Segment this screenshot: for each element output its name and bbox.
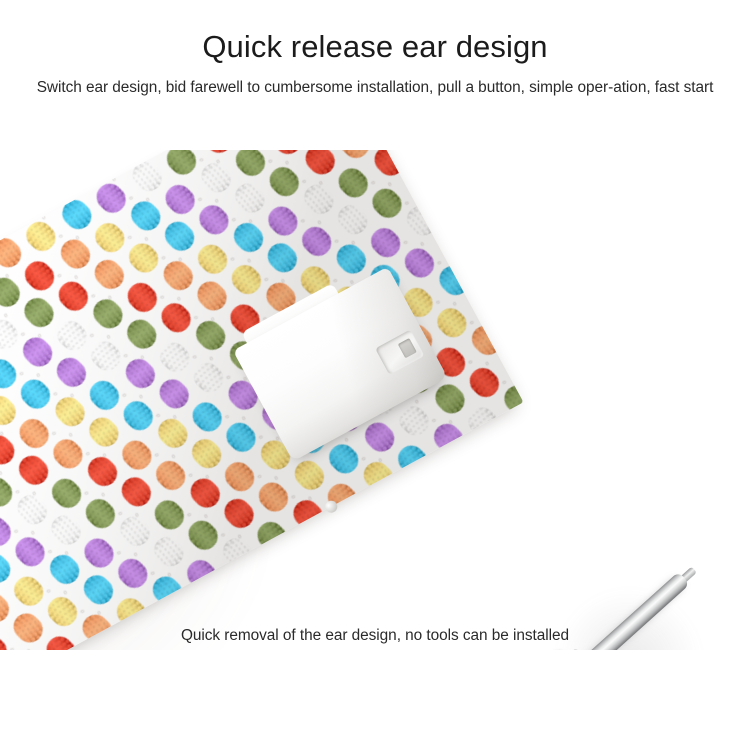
page-subtitle: Switch ear design, bid farewell to cumbe… — [19, 76, 731, 100]
page-title: Quick release ear design — [0, 0, 750, 65]
product-feature-panel: Quick release ear design Switch ear desi… — [0, 0, 750, 750]
product-photo — [0, 150, 750, 650]
connector-pin-end — [323, 499, 339, 515]
pin-release-knob — [546, 646, 571, 650]
header: Quick release ear design Switch ear desi… — [0, 0, 750, 100]
photo-caption: Quick removal of the ear design, no tool… — [0, 627, 750, 645]
pin-release-lever — [571, 648, 585, 650]
